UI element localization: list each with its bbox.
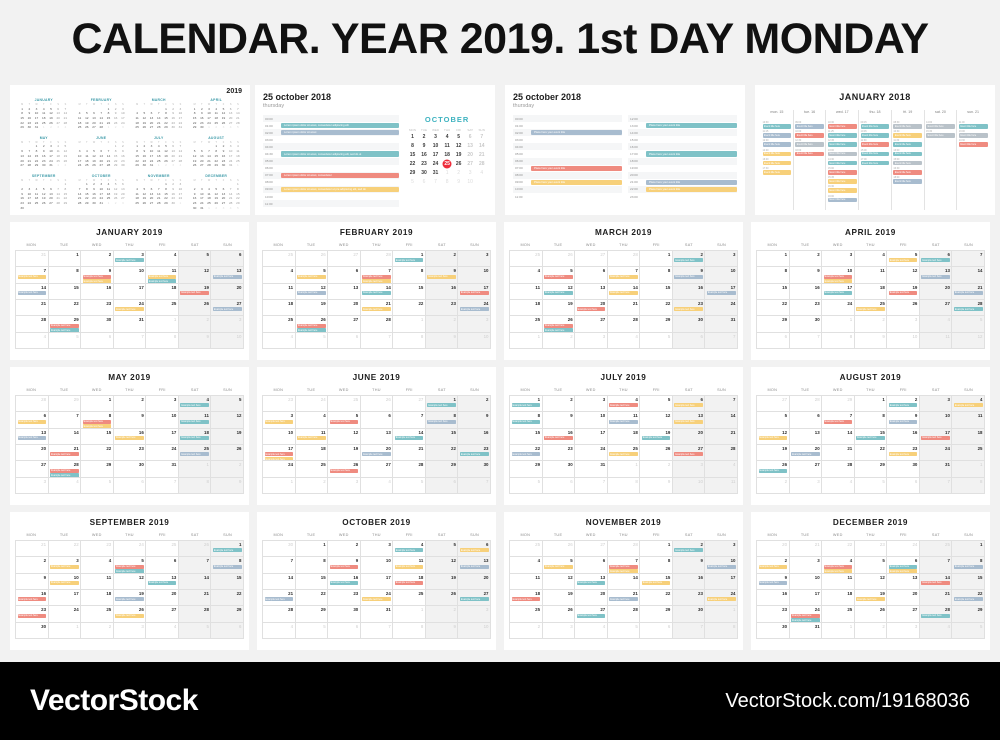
month-event-bar[interactable]: Example text here xyxy=(115,565,144,569)
month-event-bar[interactable]: Example text here xyxy=(265,452,294,456)
agenda-row[interactable]: 10:00 xyxy=(513,186,622,193)
month-cell[interactable]: 19 xyxy=(211,429,244,445)
month-cell[interactable]: 27Example text here xyxy=(211,300,244,316)
month-cell[interactable]: 14Example text here xyxy=(920,574,953,590)
month-cell[interactable]: 10Example text here xyxy=(49,574,82,590)
month-cell[interactable]: 5Example text here xyxy=(543,557,576,573)
month-cell[interactable]: 11 xyxy=(855,267,888,283)
month-cell[interactable]: 7Example text here xyxy=(608,267,641,283)
week-event-bar[interactable]: Event title here xyxy=(763,170,792,175)
week-event-bar[interactable]: Event title here xyxy=(795,124,824,129)
month-event-bar[interactable]: Example text here xyxy=(148,275,177,279)
agenda-row[interactable]: 05:00 xyxy=(513,150,622,157)
month-cell[interactable]: 18 xyxy=(263,300,296,316)
month-event-bar[interactable]: Example text here xyxy=(180,291,209,295)
week-event-bar[interactable]: Event title here xyxy=(959,142,988,147)
october-day[interactable]: 23 xyxy=(419,160,430,168)
october-day[interactable]: 3 xyxy=(430,133,441,141)
month-event-bar[interactable]: Example text here xyxy=(115,436,144,440)
month-cell[interactable]: 10 xyxy=(575,412,608,428)
week-event[interactable]: 16:30Event title here xyxy=(893,167,922,175)
week-event[interactable]: 17:00Event title here xyxy=(861,158,890,166)
month-cell[interactable]: 22 xyxy=(393,300,426,316)
month-cell[interactable]: 1Example text here xyxy=(393,251,426,267)
week-event-bar[interactable]: Event title here xyxy=(828,198,857,203)
month-cell[interactable]: 9 xyxy=(458,412,491,428)
month-cell[interactable]: 1 xyxy=(855,396,888,412)
agenda-row[interactable]: 04:00 xyxy=(513,143,622,150)
month-cell[interactable]: 30 xyxy=(458,461,491,477)
month-cell[interactable]: 27 xyxy=(920,300,953,316)
month-event-bar[interactable]: Example text here xyxy=(213,307,242,311)
month-cell[interactable]: 1 xyxy=(49,251,82,267)
month-cell[interactable]: 18 xyxy=(952,429,985,445)
month-cell[interactable]: 27Example text here xyxy=(458,590,491,606)
month-cell[interactable]: 16Example text here xyxy=(16,590,49,606)
agenda-event-bar[interactable]: Lorem ipsum dolor sit amet, consectetur … xyxy=(281,151,399,156)
october-day[interactable]: 6 xyxy=(465,133,476,141)
month-cell[interactable]: 22 xyxy=(49,300,82,316)
month-cell[interactable]: 4 xyxy=(855,251,888,267)
week-event[interactable]: 08:30Event title here xyxy=(893,121,922,129)
month-event-bar[interactable]: Example text here xyxy=(674,420,703,424)
month-cell[interactable]: 2 xyxy=(81,251,114,267)
month-event-bar[interactable]: Example text here xyxy=(954,403,983,407)
month-cell[interactable]: 20 xyxy=(458,574,491,590)
week-event-bar[interactable]: Event title here xyxy=(926,124,955,129)
month-event-bar[interactable]: Example text here xyxy=(889,258,918,262)
month-event-bar[interactable]: Example text here xyxy=(609,403,638,407)
month-cell[interactable]: 3 xyxy=(920,396,953,412)
october-day[interactable]: 14 xyxy=(476,142,487,150)
month-cell[interactable]: 21 xyxy=(920,590,953,606)
month-cell[interactable]: 26 xyxy=(887,300,920,316)
month-cell[interactable]: 27 xyxy=(16,461,49,477)
month-cell[interactable]: 20 xyxy=(575,590,608,606)
month-cell[interactable]: 6 xyxy=(328,267,361,283)
agenda-row[interactable]: 09:00Place here your event title xyxy=(513,179,622,186)
month-cell[interactable]: 30 xyxy=(673,606,706,622)
month-cell[interactable]: 5Example text hereExample text here xyxy=(114,557,147,573)
month-event-bar[interactable]: Example text here xyxy=(362,597,391,601)
october-day[interactable]: 28 xyxy=(476,160,487,168)
month-event-bar[interactable]: Example text here xyxy=(674,275,703,279)
week-event[interactable]: 11:30Event title here xyxy=(893,139,922,147)
month-cell[interactable]: 17 xyxy=(361,574,394,590)
month-cell[interactable]: 10 xyxy=(458,267,491,283)
agenda-row[interactable]: 02:00Place here your event title xyxy=(513,129,622,136)
month-cell[interactable]: 1Example text here xyxy=(510,396,543,412)
agenda-row[interactable]: 10:00 xyxy=(263,193,399,200)
month-cell[interactable]: 6 xyxy=(211,251,244,267)
agenda-row[interactable]: 01:00 xyxy=(513,122,622,129)
month-cell[interactable]: 31 xyxy=(790,623,823,639)
october-day[interactable]: 10 xyxy=(430,142,441,150)
month-cell[interactable]: 14 xyxy=(179,574,212,590)
month-cell[interactable]: 6Example text here xyxy=(920,251,953,267)
month-cell[interactable]: 9 xyxy=(543,412,576,428)
month-cell[interactable]: 22 xyxy=(81,445,114,461)
month-cell[interactable]: 28 xyxy=(263,606,296,622)
month-cell[interactable]: 30 xyxy=(16,623,49,639)
agenda-row[interactable]: 07:00Place here your event title xyxy=(513,165,622,172)
month-cell[interactable]: 19Example text here xyxy=(887,284,920,300)
month-event-bar[interactable]: Example text here xyxy=(544,565,573,569)
week-event[interactable]: 11:00Event title here xyxy=(959,121,988,129)
october-day[interactable]: 15 xyxy=(407,151,418,159)
month-cell[interactable]: 9 xyxy=(790,267,823,283)
agenda-event-bar[interactable]: Lorem ipsum dolor sit amet, consectetur … xyxy=(281,187,399,192)
month-cell[interactable]: 26 xyxy=(211,445,244,461)
october-day[interactable]: 13 xyxy=(465,142,476,150)
agenda-row[interactable]: 08:00 xyxy=(263,179,399,186)
month-cell[interactable]: 28 xyxy=(179,606,212,622)
month-cell[interactable]: 22 xyxy=(640,300,673,316)
month-event-bar[interactable]: Example text here xyxy=(180,420,209,424)
month-cell[interactable]: 26Example text hereExample text here xyxy=(543,316,576,332)
month-cell[interactable]: 7Example text hereExample text here xyxy=(361,267,394,283)
month-cell[interactable]: 31 xyxy=(575,461,608,477)
month-event-bar[interactable]: Example text here xyxy=(213,565,242,569)
month-cell[interactable]: 25 xyxy=(510,606,543,622)
week-event-bar[interactable]: Event title here xyxy=(893,161,922,166)
month-cell[interactable]: 1 xyxy=(296,541,329,557)
month-event-bar[interactable]: Example text here xyxy=(297,275,326,279)
month-cell[interactable]: 30 xyxy=(673,316,706,332)
month-cell[interactable]: 14 xyxy=(952,267,985,283)
month-event-bar[interactable]: Example text here xyxy=(609,275,638,279)
month-cell[interactable]: 16 xyxy=(81,284,114,300)
agenda-event-bar[interactable]: Lorem ipsum dolor sit amet, consectetur … xyxy=(281,123,399,128)
agenda-slot[interactable]: Lorem ipsum dolor sit amet, consectetur … xyxy=(281,123,399,128)
month-event-bar[interactable]: Example text here xyxy=(707,291,736,295)
month-cell[interactable]: 31 xyxy=(705,316,738,332)
month-cell[interactable]: 28Example text here xyxy=(952,300,985,316)
week-event-bar[interactable]: Event title here xyxy=(828,142,857,147)
month-cell[interactable]: 13Example text here xyxy=(458,557,491,573)
month-cell[interactable]: 21 xyxy=(179,590,212,606)
month-cell[interactable]: 15 xyxy=(952,574,985,590)
month-cell[interactable]: 30 xyxy=(790,316,823,332)
week-event[interactable]: 14:00Event title here xyxy=(763,149,792,157)
week-event[interactable]: 11:25Event title here xyxy=(828,130,857,138)
month-cell[interactable]: 8 xyxy=(640,557,673,573)
week-event-bar[interactable]: Event title here xyxy=(959,124,988,129)
month-cell[interactable]: 6Example text here xyxy=(458,541,491,557)
month-cell[interactable]: 19Example text here xyxy=(179,284,212,300)
october-day[interactable]: 24 xyxy=(430,160,441,168)
week-day-column[interactable]: sun. 2111:00Event title here13:00Event t… xyxy=(956,110,989,210)
month-cell[interactable]: 31 xyxy=(114,316,147,332)
month-cell[interactable]: 28 xyxy=(393,461,426,477)
month-cell[interactable]: 5Example text here xyxy=(296,267,329,283)
month-cell[interactable]: 1 xyxy=(757,251,790,267)
week-event-bar[interactable]: Event title here xyxy=(828,133,857,138)
month-cell[interactable]: 26 xyxy=(179,300,212,316)
month-cell[interactable]: 18 xyxy=(146,284,179,300)
month-cell[interactable]: 15 xyxy=(211,574,244,590)
month-cell[interactable]: 31 xyxy=(146,461,179,477)
agenda-event-bar[interactable]: Lorem ipsum dolor sit amet xyxy=(281,130,399,135)
agenda-row[interactable]: 14:00 xyxy=(628,129,737,136)
month-cell[interactable]: 11Example text here xyxy=(393,557,426,573)
month-cell[interactable]: 21 xyxy=(393,445,426,461)
week-day-column[interactable]: fri. 1908:30Event title here10:30Event t… xyxy=(891,110,924,210)
month-cell[interactable]: 13Example text here xyxy=(575,574,608,590)
month-cell[interactable]: 30 xyxy=(543,461,576,477)
month-cell[interactable]: 20Example text here xyxy=(361,445,394,461)
month-cell[interactable]: 29 xyxy=(855,461,888,477)
month-cell[interactable]: 26Example text here xyxy=(114,606,147,622)
month-cell[interactable]: 6 xyxy=(575,557,608,573)
month-cell[interactable]: 10 xyxy=(114,267,147,283)
month-cell[interactable]: 24Example text here xyxy=(114,300,147,316)
month-cell[interactable]: 3 xyxy=(458,251,491,267)
month-cell[interactable]: 27Example text here xyxy=(673,445,706,461)
month-event-bar[interactable]: Example text here xyxy=(213,548,242,552)
month-event-bar[interactable]: Example text here xyxy=(921,614,950,618)
month-cell[interactable]: 5 xyxy=(640,396,673,412)
month-cell[interactable]: 19 xyxy=(426,574,459,590)
week-event[interactable]: 10:30Event title here xyxy=(893,130,922,138)
month-cell[interactable]: 21 xyxy=(16,300,49,316)
month-cell[interactable]: 23 xyxy=(790,300,823,316)
month-cell[interactable]: 7 xyxy=(705,396,738,412)
month-cell[interactable]: 21Example text here xyxy=(263,590,296,606)
month-event-bar[interactable]: Example text here xyxy=(460,548,489,552)
month-cell[interactable]: 24 xyxy=(49,606,82,622)
month-cell[interactable]: 17 xyxy=(575,429,608,445)
month-cell[interactable]: 15 xyxy=(426,429,459,445)
month-cell[interactable]: 20Example text here xyxy=(790,445,823,461)
month-cell[interactable]: 9Example text here xyxy=(757,574,790,590)
october-day[interactable]: 9 xyxy=(419,142,430,150)
month-cell[interactable]: 1Example text here xyxy=(426,396,459,412)
month-cell[interactable]: 3 xyxy=(361,541,394,557)
agenda-row[interactable]: 16:00 xyxy=(628,143,737,150)
month-event-bar[interactable]: Example text here xyxy=(577,581,606,585)
month-event-bar[interactable]: Example text here xyxy=(115,597,144,601)
month-cell[interactable]: 20 xyxy=(328,300,361,316)
month-event-bar[interactable]: Example text here xyxy=(954,307,983,311)
week-day-column[interactable]: sat. 2014:00Event title here15:30Event t… xyxy=(924,110,957,210)
agenda-slot[interactable]: Place here your event title xyxy=(646,180,737,185)
agenda-row[interactable]: 19:00 xyxy=(628,165,737,172)
month-cell[interactable]: 4Example text here xyxy=(393,541,426,557)
month-cell[interactable]: 17Example text here xyxy=(822,284,855,300)
month-cell[interactable]: 7 xyxy=(49,412,82,428)
month-cell[interactable]: 3Example text here xyxy=(263,412,296,428)
month-cell[interactable]: 25 xyxy=(510,316,543,332)
month-cell[interactable]: 14Example text here xyxy=(608,284,641,300)
month-event-bar[interactable]: Example text here xyxy=(674,403,703,407)
month-cell[interactable]: 11 xyxy=(81,574,114,590)
month-cell[interactable]: 22Example text here xyxy=(510,445,543,461)
week-event[interactable]: 12:00Event title here xyxy=(763,139,792,147)
agenda-row[interactable]: 17:00Place here your event title xyxy=(628,150,737,157)
october-day[interactable]: 5 xyxy=(453,133,464,141)
month-cell[interactable]: 16Example text here xyxy=(114,429,147,445)
month-event-bar[interactable]: Example text here xyxy=(18,436,47,440)
month-event-bar[interactable]: Example text here xyxy=(180,403,209,407)
month-cell[interactable]: 29 xyxy=(640,316,673,332)
month-cell[interactable]: 12 xyxy=(887,267,920,283)
month-event-bar[interactable]: Example text here xyxy=(460,452,489,456)
month-cell[interactable]: 8 xyxy=(757,267,790,283)
week-event-bar[interactable]: Event title here xyxy=(861,161,890,166)
agenda-event-bar[interactable]: Place here your event title xyxy=(531,130,622,135)
week-event[interactable]: 12:45Event title here xyxy=(828,139,857,147)
month-cell[interactable]: 23 xyxy=(673,590,706,606)
month-cell[interactable]: 25Example text here xyxy=(608,445,641,461)
month-event-bar[interactable]: Example text here xyxy=(609,420,638,424)
month-cell[interactable]: 12 xyxy=(543,574,576,590)
week-event-bar[interactable]: Event title here xyxy=(893,179,922,184)
month-cell[interactable]: 15 xyxy=(510,429,543,445)
month-event-bar[interactable]: Example text here xyxy=(824,565,853,569)
month-cell[interactable]: 21Example text here xyxy=(952,284,985,300)
month-event-bar[interactable]: Example text here xyxy=(115,614,144,618)
month-cell[interactable]: 27Example text here xyxy=(575,606,608,622)
agenda-slot[interactable]: Lorem ipsum dolor sit amet, consectetur xyxy=(281,173,399,178)
week-event-bar[interactable]: Event title here xyxy=(893,124,922,129)
week-event[interactable]: 16:30Event title here xyxy=(828,185,857,193)
month-cell[interactable]: 11 xyxy=(952,412,985,428)
month-cell[interactable]: 8Example text here xyxy=(211,557,244,573)
month-cell[interactable]: 14 xyxy=(608,574,641,590)
month-event-bar[interactable]: Example text here xyxy=(460,597,489,601)
month-cell[interactable]: 27 xyxy=(887,606,920,622)
month-cell[interactable]: 6 xyxy=(790,412,823,428)
month-cell[interactable]: 11Example text hereExample text here xyxy=(146,267,179,283)
month-cell[interactable]: 18Example text here xyxy=(393,574,426,590)
month-cell[interactable]: 2 xyxy=(458,396,491,412)
month-cell[interactable]: 21 xyxy=(822,445,855,461)
month-cell[interactable]: 23 xyxy=(328,590,361,606)
month-event-bar[interactable]: Example text here xyxy=(674,548,703,552)
week-day-column[interactable]: wed. 1710:30Event title here11:25Event t… xyxy=(825,110,858,210)
month-cell[interactable]: 6Example text hereExample text here xyxy=(887,557,920,573)
month-event-bar[interactable]: Example text here xyxy=(330,565,359,569)
october-day[interactable]: 20 xyxy=(465,151,476,159)
week-event-bar[interactable]: Event title here xyxy=(828,170,857,175)
month-cell[interactable]: 12 xyxy=(640,412,673,428)
week-event-bar[interactable]: Event title here xyxy=(763,161,792,166)
month-cell[interactable]: 24 xyxy=(575,445,608,461)
agenda-slot[interactable]: Lorem ipsum dolor sit amet, consectetur … xyxy=(281,187,399,192)
agenda-row[interactable]: 01:00Lorem ipsum dolor sit amet, consect… xyxy=(263,122,399,129)
month-cell[interactable]: 30 xyxy=(757,623,790,639)
month-cell[interactable]: 8 xyxy=(296,557,329,573)
month-event-bar[interactable]: Example text here xyxy=(148,581,177,585)
agenda-slot[interactable]: Place here your event title xyxy=(646,187,737,192)
month-cell[interactable]: 11 xyxy=(510,284,543,300)
month-cell[interactable]: 13 xyxy=(575,284,608,300)
month-cell[interactable]: 2 xyxy=(328,541,361,557)
month-cell[interactable]: 18 xyxy=(855,284,888,300)
month-cell[interactable]: 2 xyxy=(426,251,459,267)
month-cell[interactable]: 9 xyxy=(673,557,706,573)
week-event-bar[interactable]: Event title here xyxy=(893,142,922,147)
month-cell[interactable]: 28 xyxy=(16,316,49,332)
month-cell[interactable]: 27 xyxy=(328,316,361,332)
agenda-row[interactable]: 12:00 xyxy=(628,115,737,122)
month-event-bar[interactable]: Example text here xyxy=(427,275,456,279)
month-cell[interactable]: 23 xyxy=(543,445,576,461)
agenda-event-bar[interactable]: Place here your event title xyxy=(646,151,737,156)
month-cell[interactable]: 3Example text here xyxy=(114,251,147,267)
month-cell[interactable]: 25 xyxy=(296,461,329,477)
week-event[interactable]: 11:15Event title here xyxy=(763,130,792,138)
week-day-column[interactable]: mon. 1510:30Event title here11:15Event t… xyxy=(761,110,793,210)
week-day-column[interactable]: tue. 1609:00Event title here10:00Event t… xyxy=(793,110,826,210)
week-event-bar[interactable]: Event title here xyxy=(828,161,857,166)
week-event[interactable]: 14:30Event title here xyxy=(828,158,857,166)
october-day[interactable]: 11 xyxy=(442,142,453,150)
month-cell[interactable]: 14 xyxy=(822,429,855,445)
agenda-slot[interactable]: Place here your event title xyxy=(646,123,737,128)
month-cell[interactable]: 4 xyxy=(510,267,543,283)
agenda-row[interactable]: 03:00 xyxy=(513,136,622,143)
month-event-bar[interactable]: Example text here xyxy=(18,597,47,601)
week-event-bar[interactable]: Event title here xyxy=(893,170,922,175)
month-event-bar[interactable]: Example text here xyxy=(889,291,918,295)
week-event-bar[interactable]: Event title here xyxy=(795,152,824,157)
month-cell[interactable]: 24Example text here xyxy=(361,590,394,606)
month-cell[interactable]: 24 xyxy=(263,461,296,477)
month-cell[interactable]: 8Example text here xyxy=(952,557,985,573)
agenda-row[interactable]: 11:00 xyxy=(513,193,622,200)
month-event-bar[interactable]: Example text here xyxy=(577,307,606,311)
agenda-row[interactable]: 00:00 xyxy=(263,115,399,122)
month-cell[interactable]: 7 xyxy=(952,251,985,267)
month-cell[interactable]: 4 xyxy=(81,557,114,573)
month-cell[interactable]: 12Example text here xyxy=(757,429,790,445)
week-event[interactable]: 15:00Event title here xyxy=(861,149,890,157)
month-event-bar[interactable]: Example text here xyxy=(824,275,853,279)
month-cell[interactable]: 21 xyxy=(608,300,641,316)
agenda-row[interactable]: 09:00Lorem ipsum dolor sit amet, consect… xyxy=(263,186,399,193)
october-day[interactable]: 7 xyxy=(476,133,487,141)
month-cell[interactable]: 24 xyxy=(705,300,738,316)
month-cell[interactable]: 22Example text here xyxy=(952,590,985,606)
month-cell[interactable]: 5 xyxy=(757,412,790,428)
month-cell[interactable]: 23 xyxy=(81,300,114,316)
month-cell[interactable]: 31 xyxy=(361,606,394,622)
month-cell[interactable]: 26Example text here xyxy=(757,461,790,477)
month-cell[interactable]: 6 xyxy=(146,557,179,573)
month-event-bar[interactable]: Example text here xyxy=(297,436,326,440)
month-cell[interactable]: 22 xyxy=(426,445,459,461)
month-cell[interactable]: 3 xyxy=(575,396,608,412)
month-event-bar[interactable]: Example text here xyxy=(707,565,736,569)
month-cell[interactable]: 20 xyxy=(146,590,179,606)
month-cell[interactable]: 4 xyxy=(263,267,296,283)
month-event-bar[interactable]: Example text here xyxy=(889,420,918,424)
month-event-bar[interactable]: Example text here xyxy=(50,565,79,569)
october-day[interactable]: 30 xyxy=(419,169,430,177)
month-cell[interactable]: 16Example text here xyxy=(543,429,576,445)
week-event-bar[interactable]: Event title here xyxy=(828,124,857,129)
week-event-bar[interactable]: Event title here xyxy=(763,133,792,138)
month-cell[interactable]: 17Example text hereExample text here xyxy=(263,445,296,461)
month-event-bar[interactable]: Example text here xyxy=(50,324,79,328)
month-event-bar[interactable]: Example text here xyxy=(759,436,788,440)
month-cell[interactable]: 25 xyxy=(822,606,855,622)
month-cell[interactable]: 16 xyxy=(757,590,790,606)
month-event-bar[interactable]: Example text here xyxy=(856,307,885,311)
month-event-bar[interactable]: Example text here xyxy=(954,291,983,295)
